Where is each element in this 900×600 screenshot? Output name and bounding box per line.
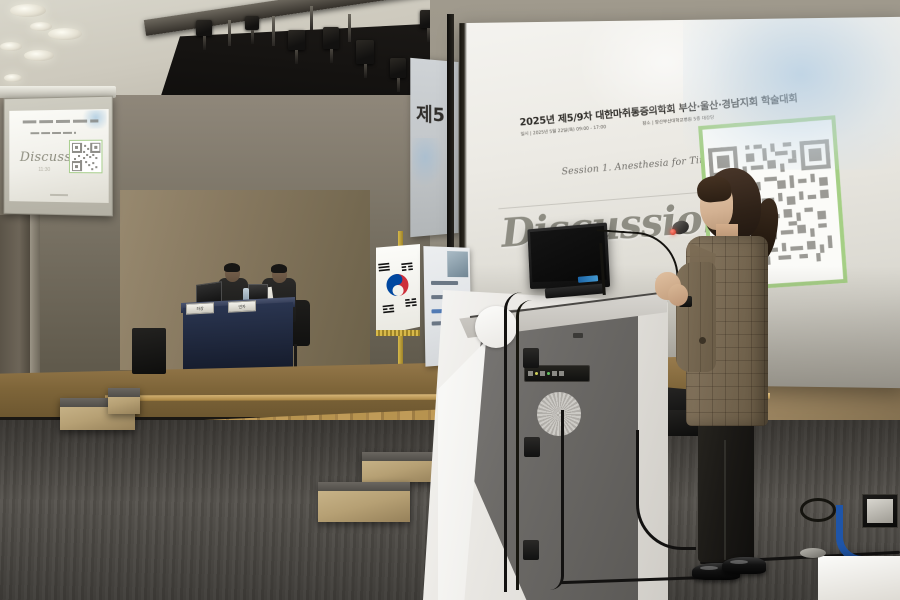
mini-slide: Discussion 11:30 xyxy=(9,109,108,203)
microphone-active-indicator xyxy=(670,229,676,235)
stage-spotlight xyxy=(196,20,212,36)
spacer xyxy=(608,125,642,128)
screen-glare-right xyxy=(683,17,900,170)
step-tread xyxy=(108,388,140,397)
spotlight-stem xyxy=(272,16,275,46)
panelist-left-hair xyxy=(224,263,240,272)
banner-text: 제5 xyxy=(416,99,445,127)
spotlight-stem xyxy=(310,6,313,30)
stage-step-right-lower xyxy=(318,482,410,522)
banner-graphic xyxy=(412,138,444,187)
mini-slide-time: 11:30 xyxy=(38,167,50,173)
spotlight-stem xyxy=(228,20,231,46)
panelist-right-hair xyxy=(271,264,287,273)
shoe-highlight xyxy=(730,560,748,564)
taegukgi-svg xyxy=(376,244,420,336)
black-cable-coil xyxy=(800,498,836,522)
stage-door[interactable] xyxy=(0,215,34,390)
poster-image xyxy=(447,251,468,277)
floor-mic-base xyxy=(800,548,826,558)
nameplate-right: 연자 xyxy=(228,300,256,312)
podium-cable-3 xyxy=(546,410,564,590)
white-floor-cabinet xyxy=(818,556,900,600)
floor-cable-loop xyxy=(636,430,696,550)
presenter-shoe-right xyxy=(722,557,766,574)
av-panel-face xyxy=(867,499,893,523)
flag-cloth xyxy=(376,244,420,336)
mini-qr-code xyxy=(69,140,103,174)
ceiling-light-1 xyxy=(10,4,46,17)
stage-speaker-left xyxy=(132,328,166,374)
stage-step-left-lower xyxy=(108,388,140,414)
mini-slide-session-text xyxy=(30,132,76,134)
secondary-projection-screen: Discussion 11:30 xyxy=(4,96,113,217)
mini-slide-footer xyxy=(50,194,68,196)
presenter-trousers xyxy=(698,414,754,562)
mini-qr-svg xyxy=(72,143,100,171)
step-tread xyxy=(318,482,410,491)
stage-step-right-upper xyxy=(362,452,442,482)
ceiling-light-4 xyxy=(24,50,54,61)
door-frame xyxy=(30,205,40,395)
trouser-crease xyxy=(724,440,726,560)
stage-spotlight xyxy=(288,30,305,50)
stage-spotlight xyxy=(245,16,259,30)
conference-hall-scene: Discussion 11:30 xyxy=(0,0,900,600)
wall-av-panel[interactable] xyxy=(862,494,898,528)
spotlight-stem xyxy=(348,14,351,42)
chair-stem xyxy=(294,344,297,370)
podium-vent-slot xyxy=(573,333,583,338)
podium-cable-2 xyxy=(516,300,550,590)
shoe-highlight xyxy=(700,566,718,570)
stage-spotlight xyxy=(390,58,406,78)
poster-line-1 xyxy=(431,281,458,285)
panel-button[interactable] xyxy=(552,371,557,376)
ceiling-light-3 xyxy=(30,22,52,31)
panel-button[interactable] xyxy=(559,371,564,376)
presenter-arm xyxy=(676,262,716,372)
stage-spotlight xyxy=(323,27,339,49)
ceiling-light-6 xyxy=(4,74,22,82)
presenter-hand-right xyxy=(668,284,688,306)
ceiling-light-2 xyxy=(48,28,82,40)
ceiling-light-5 xyxy=(0,42,22,51)
step-tread xyxy=(362,452,442,461)
blazer-button xyxy=(699,337,706,344)
nameplate-left: 좌장 xyxy=(186,302,214,314)
stage-spotlight xyxy=(356,40,374,64)
flag-fringe xyxy=(376,330,420,336)
